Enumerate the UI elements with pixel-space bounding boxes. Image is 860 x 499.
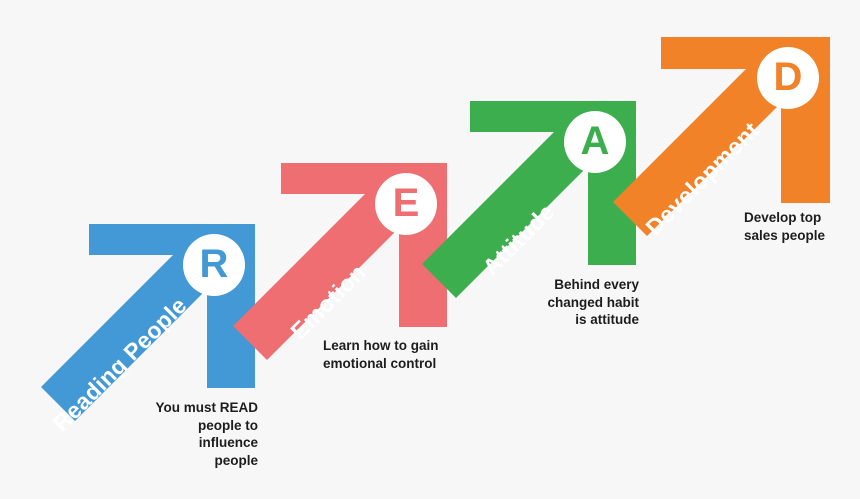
caption-d: Develop top sales people: [744, 209, 860, 244]
letter-badge-d-text: D: [774, 57, 803, 97]
step-arrow-d[interactable]: Development D Develop top sales people: [0, 0, 860, 499]
letter-badge-d: D: [757, 47, 819, 109]
infographic-canvas: Reading People R You must READ people to…: [0, 0, 860, 499]
arrow-shape-d: [0, 0, 860, 499]
